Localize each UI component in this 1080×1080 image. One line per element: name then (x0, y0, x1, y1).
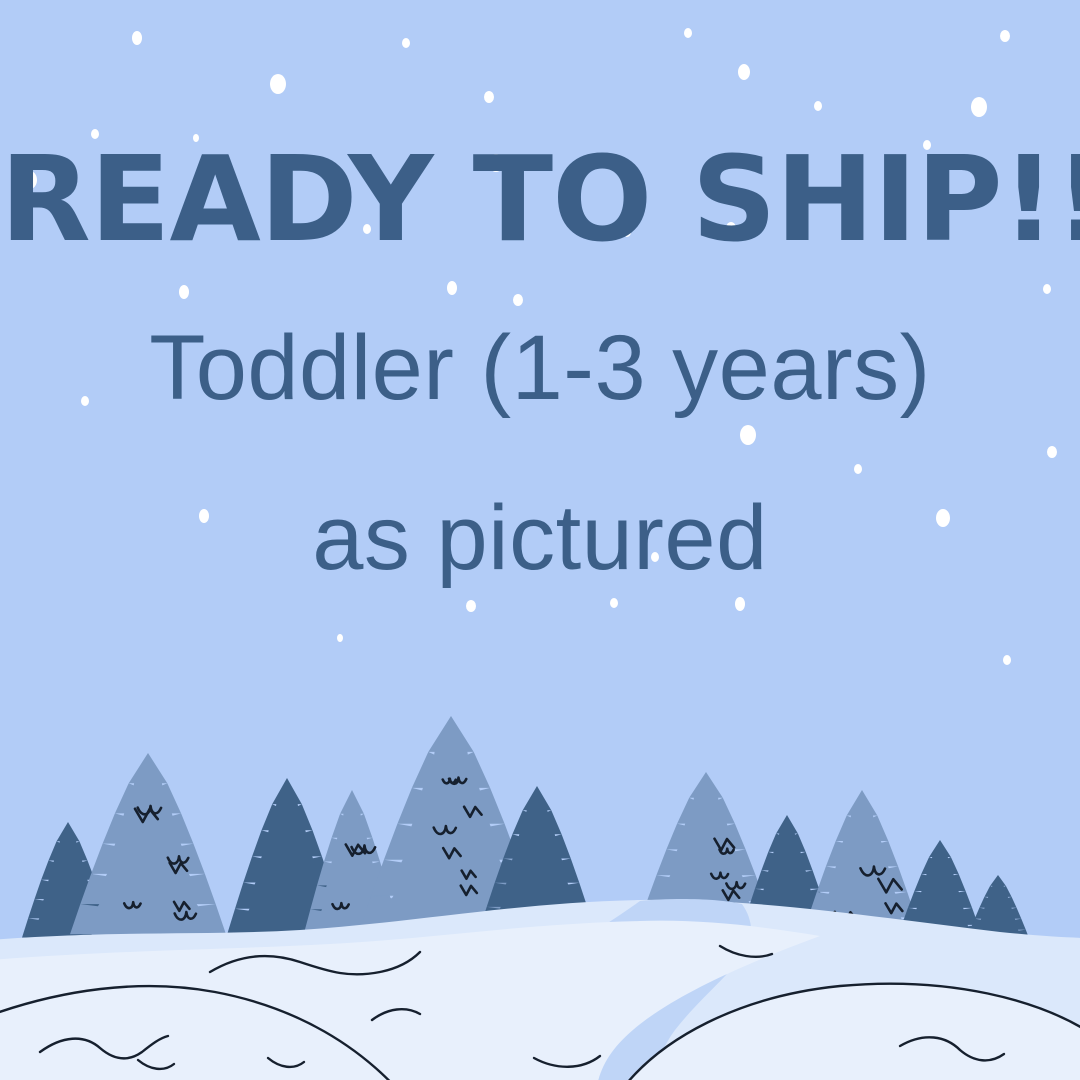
snowflake (81, 396, 89, 406)
snowflake (623, 227, 631, 237)
winter-announcement-graphic: READY TO SHIP!!! Toddler (1-3 years) as … (0, 0, 1080, 1080)
snowflake (1003, 655, 1011, 665)
winter-scene-illustration (0, 0, 1080, 1080)
snowflake (740, 425, 756, 445)
snowflake (199, 509, 209, 523)
snowflake (193, 134, 199, 142)
snowflake (270, 74, 286, 94)
snowflake (610, 598, 618, 608)
snowflake (447, 281, 457, 295)
snowflake (726, 222, 736, 234)
snowflake (484, 91, 494, 103)
snowflake (738, 64, 750, 80)
snowflake (923, 140, 931, 150)
snowflake (489, 154, 503, 172)
snowflake (513, 294, 523, 306)
snowflake (402, 38, 410, 48)
snowflake (735, 597, 745, 611)
snowflake (91, 129, 99, 139)
snowflake (936, 509, 950, 527)
snowflake (363, 224, 371, 234)
snowflake (179, 285, 189, 299)
snowflake (337, 634, 343, 642)
snowflake (1047, 446, 1057, 458)
snowflake (23, 171, 37, 189)
snowflake (466, 600, 476, 612)
snowflake (684, 28, 692, 38)
snowflake (132, 31, 142, 45)
snowflake (1043, 284, 1051, 294)
snowflake (814, 101, 822, 111)
snowflake (1000, 30, 1010, 42)
snowflake (971, 97, 987, 117)
snowflake (651, 552, 659, 562)
snowflake (854, 464, 862, 474)
